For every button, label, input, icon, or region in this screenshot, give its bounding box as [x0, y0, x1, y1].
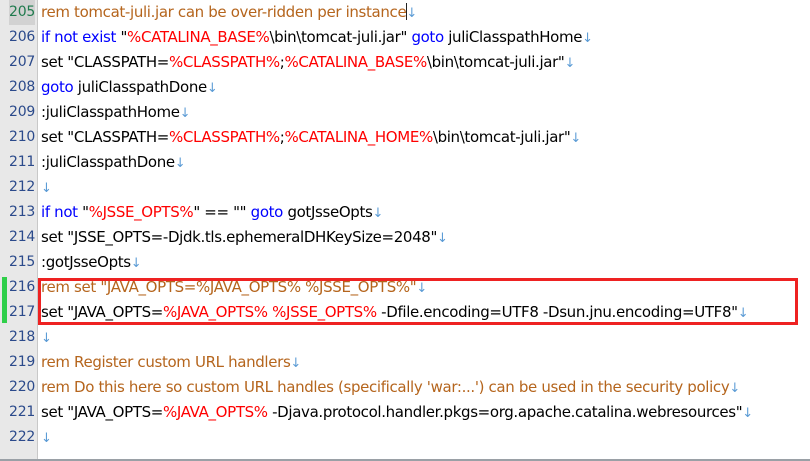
line-number[interactable]: 211	[9, 150, 35, 175]
code-token-key: goto	[411, 28, 448, 46]
code-token-var: %JSSE_OPTS%	[272, 303, 377, 321]
code-line[interactable]: goto juliClasspathDone↓	[41, 75, 810, 100]
eol-marker-icon: ↓	[131, 256, 142, 271]
code-token-key: goto	[251, 203, 288, 221]
eol-marker-icon: ↓	[729, 381, 740, 396]
code-editor[interactable]: 2052062072082092102112122132142152162172…	[0, 0, 810, 461]
code-line[interactable]: set "JSSE_OPTS=-Djdk.tls.ephemeralDHKeyS…	[41, 225, 810, 250]
line-number[interactable]: 208	[9, 75, 35, 100]
code-line[interactable]: ↓	[41, 425, 810, 450]
eol-marker-icon: ↓	[742, 406, 753, 421]
line-number[interactable]: 213	[9, 200, 35, 225]
line-number[interactable]: 220	[9, 375, 35, 400]
code-line[interactable]: set "CLASSPATH=%CLASSPATH%;%CATALINA_HOM…	[41, 125, 810, 150]
code-token-var: %CATALINA_HOME%	[285, 128, 433, 146]
eol-marker-icon: ↓	[290, 356, 301, 371]
line-number[interactable]: 212	[9, 175, 35, 200]
code-line[interactable]: ↓	[41, 175, 810, 200]
line-number[interactable]: 215	[9, 250, 35, 275]
eol-marker-icon: ↓	[406, 6, 417, 21]
changed-lines-marker	[2, 277, 7, 323]
code-token-plain: :juliClasspathHome	[41, 103, 180, 121]
code-token-plain: set "CLASSPATH=	[41, 53, 169, 71]
code-token-plain: juliClasspathHome	[448, 28, 582, 46]
code-token-var: %CLASSPATH%	[169, 128, 280, 146]
code-line[interactable]: set "JAVA_OPTS=%JAVA_OPTS% %JSSE_OPTS% -…	[41, 300, 810, 325]
eol-marker-icon: ↓	[582, 31, 593, 46]
code-line[interactable]: ↓	[41, 325, 810, 350]
code-line[interactable]: rem Do this here so custom URL handles (…	[41, 375, 810, 400]
line-number[interactable]: 214	[9, 225, 35, 250]
code-token-plain: \bin\tomcat-juli.jar"	[269, 28, 411, 46]
code-token-plain: juliClasspathDone	[78, 78, 207, 96]
eol-marker-icon: ↓	[41, 331, 52, 346]
code-token-plain: set "JAVA_OPTS=	[41, 403, 163, 421]
line-number[interactable]: 216	[9, 275, 35, 300]
code-token-var: %JAVA_OPTS%	[163, 403, 268, 421]
code-token-key: if not exist	[41, 28, 120, 46]
code-token-plain: set "JSSE_OPTS=-Djdk.tls.ephemeralDHKeyS…	[41, 228, 437, 246]
code-line[interactable]: if not exist "%CATALINA_BASE%\bin\tomcat…	[41, 25, 810, 50]
code-token-comment: rem Register custom URL handlers	[41, 353, 290, 371]
code-token-var: %CATALINA_BASE%	[285, 53, 427, 71]
code-line[interactable]: if not "%JSSE_OPTS%" == "" goto gotJsseO…	[41, 200, 810, 225]
code-token-plain: \bin\tomcat-juli.jar"	[433, 128, 571, 146]
code-token-plain: -Djava.protocol.handler.pkgs=org.apache.…	[268, 403, 743, 421]
eol-marker-icon: ↓	[207, 81, 218, 96]
line-number[interactable]: 207	[9, 50, 35, 75]
code-token-var: %CATALINA_BASE%	[127, 28, 269, 46]
eol-marker-icon: ↓	[175, 156, 186, 171]
code-token-plain: :gotJsseOpts	[41, 253, 131, 271]
code-token-plain: " == ""	[193, 203, 250, 221]
change-marker-strip	[0, 0, 9, 459]
eol-marker-icon: ↓	[180, 106, 191, 121]
code-line[interactable]: set "CLASSPATH=%CLASSPATH%;%CATALINA_BAS…	[41, 50, 810, 75]
line-number[interactable]: 218	[9, 325, 35, 350]
line-number[interactable]: 217	[9, 300, 35, 325]
code-token-plain: \bin\tomcat-juli.jar"	[427, 53, 565, 71]
eol-marker-icon: ↓	[570, 131, 581, 146]
code-token-plain: gotJsseOpts	[287, 203, 372, 221]
code-line[interactable]: set "JAVA_OPTS=%JAVA_OPTS% -Djava.protoc…	[41, 400, 810, 425]
code-token-key: goto	[41, 78, 78, 96]
code-token-var: %JAVA_OPTS%	[163, 303, 268, 321]
code-token-plain: :juliClasspathDone	[41, 153, 175, 171]
line-number[interactable]: 209	[9, 100, 35, 125]
code-text-area[interactable]: rem tomcat-juli.jar can be over-ridden p…	[38, 0, 810, 459]
line-number[interactable]: 205	[9, 0, 35, 25]
code-token-plain: set "JAVA_OPTS=	[41, 303, 163, 321]
code-line[interactable]: rem Register custom URL handlers↓	[41, 350, 810, 375]
eol-marker-icon: ↓	[41, 181, 52, 196]
line-number-gutter[interactable]: 2052062072082092102112122132142152162172…	[9, 0, 38, 459]
code-line[interactable]: :gotJsseOpts↓	[41, 250, 810, 275]
code-token-var: %JSSE_OPTS%	[89, 203, 194, 221]
code-token-comment: rem tomcat-juli.jar can be over-ridden p…	[41, 3, 406, 21]
eol-marker-icon: ↓	[564, 56, 575, 71]
code-token-key: if not	[41, 203, 82, 221]
line-number[interactable]: 210	[9, 125, 35, 150]
code-token-plain: -Dfile.encoding=UTF8 -Dsun.jnu.encoding=…	[377, 303, 738, 321]
line-number[interactable]: 219	[9, 350, 35, 375]
code-line[interactable]: :juliClasspathHome↓	[41, 100, 810, 125]
eol-marker-icon: ↓	[41, 431, 52, 446]
code-token-comment: rem Do this here so custom URL handles (…	[41, 378, 729, 396]
eol-marker-icon: ↓	[437, 231, 448, 246]
eol-marker-icon: ↓	[372, 206, 383, 221]
code-token-comment: rem set "JAVA_OPTS=%JAVA_OPTS% %JSSE_OPT…	[41, 278, 416, 296]
line-number[interactable]: 222	[9, 425, 35, 450]
line-number[interactable]: 221	[9, 400, 35, 425]
code-line[interactable]: rem tomcat-juli.jar can be over-ridden p…	[41, 0, 810, 25]
eol-marker-icon: ↓	[416, 281, 427, 296]
code-token-plain: set "CLASSPATH=	[41, 128, 169, 146]
code-token-var: %CLASSPATH%	[169, 53, 280, 71]
code-line[interactable]: :juliClasspathDone↓	[41, 150, 810, 175]
eol-marker-icon: ↓	[738, 306, 749, 321]
code-line[interactable]: rem set "JAVA_OPTS=%JAVA_OPTS% %JSSE_OPT…	[41, 275, 810, 300]
line-number[interactable]: 206	[9, 25, 35, 50]
